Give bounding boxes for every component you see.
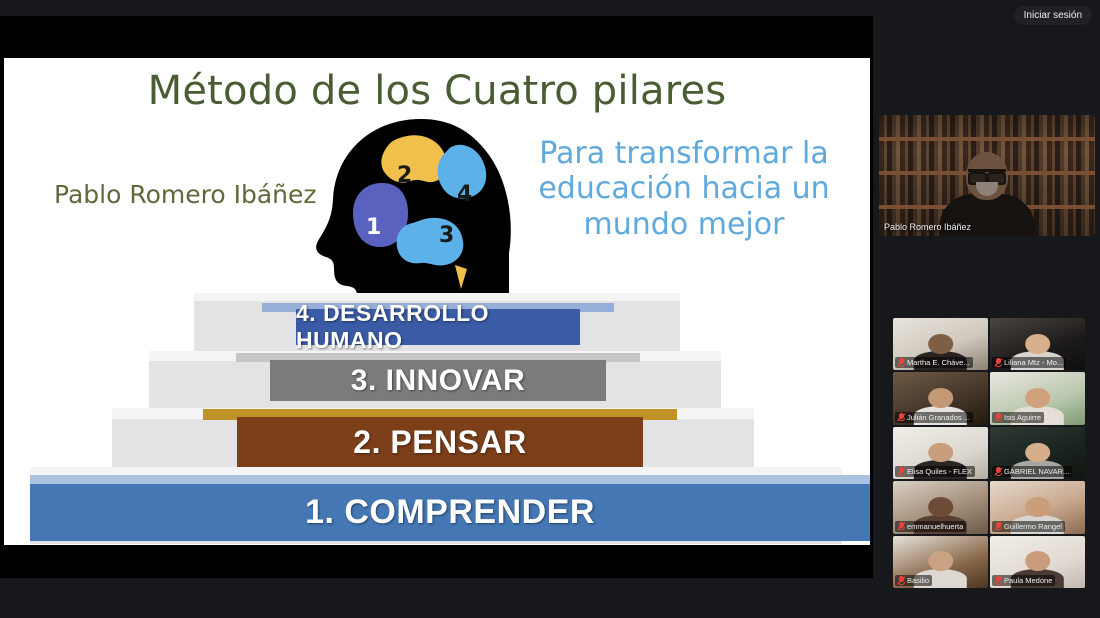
participant-tile[interactable]: Basilio xyxy=(893,536,988,588)
participant-name: Paula Medone xyxy=(1004,575,1052,586)
participant-label: Paula Medone xyxy=(992,575,1055,586)
shared-screen-stage[interactable]: Método de los Cuatro pilares Pablo Romer… xyxy=(0,16,873,578)
active-speaker-name: Pablo Romero Ibáñez xyxy=(884,222,971,232)
participant-label: Elisa Quiles - FLEX xyxy=(895,466,975,477)
participant-label: GABRIEL NAVAR... xyxy=(992,466,1072,477)
mic-muted-icon xyxy=(994,358,1002,368)
pyramid-step-4-label: 4. DESARROLLO HUMANO xyxy=(296,309,580,345)
pyramid-step-1: 1. COMPRENDER xyxy=(30,475,870,541)
pyramid-step-3: 3. INNOVAR xyxy=(270,353,606,401)
mic-muted-icon xyxy=(994,412,1002,422)
mic-muted-icon xyxy=(897,521,905,531)
participant-label: Julián Granados ... xyxy=(895,412,973,423)
participant-name: Liliana Mtz - Mo... xyxy=(1004,357,1063,368)
pyramid-step-4: 4. DESARROLLO HUMANO xyxy=(296,303,580,345)
participant-name: Martha E. Cháve... xyxy=(907,357,970,368)
participant-label: Basilio xyxy=(895,575,932,586)
participant-name: Julián Granados ... xyxy=(907,412,970,423)
meeting-window: Iniciar sesión Método de los Cuatro pila… xyxy=(0,0,1100,618)
pyramid-step-3-label: 3. INNOVAR xyxy=(270,360,606,401)
participant-tile[interactable]: Paula Medone xyxy=(990,536,1085,588)
participant-label: Martha E. Cháve... xyxy=(895,357,973,368)
pyramid-step-2-label: 2. PENSAR xyxy=(237,417,643,467)
participant-name: Isis Aguirre xyxy=(1004,412,1041,423)
participant-name: emmanuelhuerta xyxy=(907,521,963,532)
participant-name: Elisa Quiles - FLEX xyxy=(907,466,972,477)
presentation-slide: Método de los Cuatro pilares Pablo Romer… xyxy=(4,58,870,545)
sign-in-button[interactable]: Iniciar sesión xyxy=(1014,6,1092,25)
participant-tile[interactable]: Liliana Mtz - Mo... xyxy=(990,318,1085,370)
mic-muted-icon xyxy=(994,467,1002,477)
active-speaker-tile[interactable]: Pablo Romero Ibáñez xyxy=(879,115,1095,236)
four-pillars-pyramid: 4. DESARROLLO HUMANO 3. INNOVAR 2. PENSA… xyxy=(4,303,870,545)
slide-author: Pablo Romero Ibáñez xyxy=(54,180,317,209)
mic-muted-icon xyxy=(897,576,905,586)
mic-muted-icon xyxy=(994,521,1002,531)
participant-tile[interactable]: Guillermo Rangel xyxy=(990,481,1085,533)
participant-tile[interactable]: Isis Aguirre xyxy=(990,372,1085,424)
mic-muted-icon xyxy=(897,467,905,477)
participant-tile[interactable]: Elisa Quiles - FLEX xyxy=(893,427,988,479)
participant-grid[interactable]: Martha E. Cháve... Liliana Mtz - Mo... J… xyxy=(893,318,1085,588)
pyramid-step-1-label: 1. COMPRENDER xyxy=(30,484,870,541)
participant-tile[interactable]: Martha E. Cháve... xyxy=(893,318,988,370)
mic-muted-icon xyxy=(994,576,1002,586)
participant-label: Liliana Mtz - Mo... xyxy=(992,357,1066,368)
participant-label: Guillermo Rangel xyxy=(992,521,1065,532)
pyramid-step-2: 2. PENSAR xyxy=(237,409,643,467)
participant-label: Isis Aguirre xyxy=(992,412,1044,423)
participant-tile[interactable]: GABRIEL NAVAR... xyxy=(990,427,1085,479)
slide-tagline: Para transformar la educación hacia un m… xyxy=(524,136,844,242)
mic-muted-icon xyxy=(897,412,905,422)
participant-tile[interactable]: emmanuelhuerta xyxy=(893,481,988,533)
participant-name: Guillermo Rangel xyxy=(1004,521,1062,532)
participant-label: emmanuelhuerta xyxy=(895,521,966,532)
mic-muted-icon xyxy=(897,358,905,368)
participant-name: Basilio xyxy=(907,575,929,586)
participant-name: GABRIEL NAVAR... xyxy=(1004,466,1069,477)
participant-tile[interactable]: Julián Granados ... xyxy=(893,372,988,424)
